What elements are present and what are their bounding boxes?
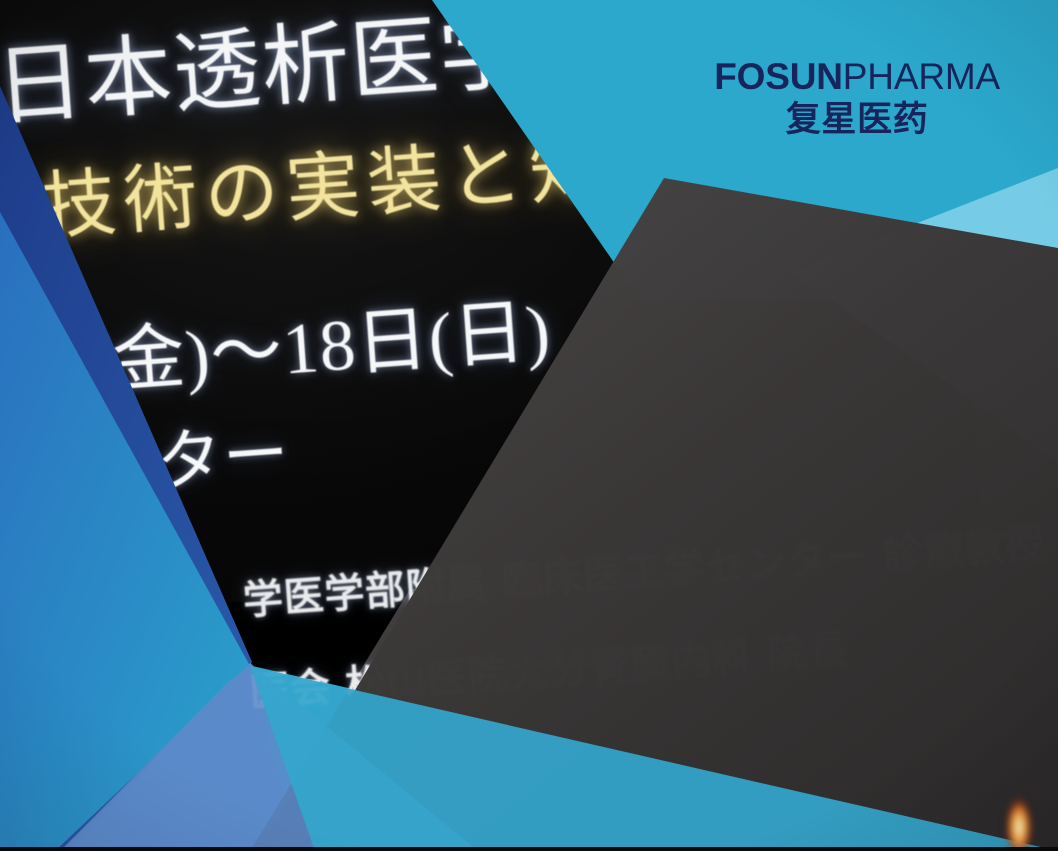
logo-word-pharma: PHARMA: [843, 56, 1000, 97]
logo-wordmark: FOSUNPHARMA: [714, 58, 1000, 95]
slide-credit-line-2: 医会 松山医院大分腎臓内科 院長: [248, 630, 850, 713]
flame-glow-icon: [1002, 789, 1036, 851]
slide-credit-line-1: 学医学部附属 臨床医工学センター 診療教授: [242, 524, 1047, 621]
bottom-edge-bar: [0, 847, 1058, 851]
fosun-pharma-logo: FOSUNPHARMA 复星医药: [714, 58, 1000, 138]
slide-date-line: 日(金)〜18日(日): [13, 295, 553, 405]
slide-venue-line: センター: [21, 422, 292, 507]
slide-capture-canvas: 日本透析医学会学 技術の実装と知識の実践 日(金)〜18日(日) センター 学医…: [0, 0, 1058, 851]
slide-title-main: 日本透析医学会学: [0, 0, 708, 133]
logo-word-fosun: FOSUN: [714, 56, 843, 97]
logo-chinese-name: 复星医药: [714, 103, 1000, 138]
